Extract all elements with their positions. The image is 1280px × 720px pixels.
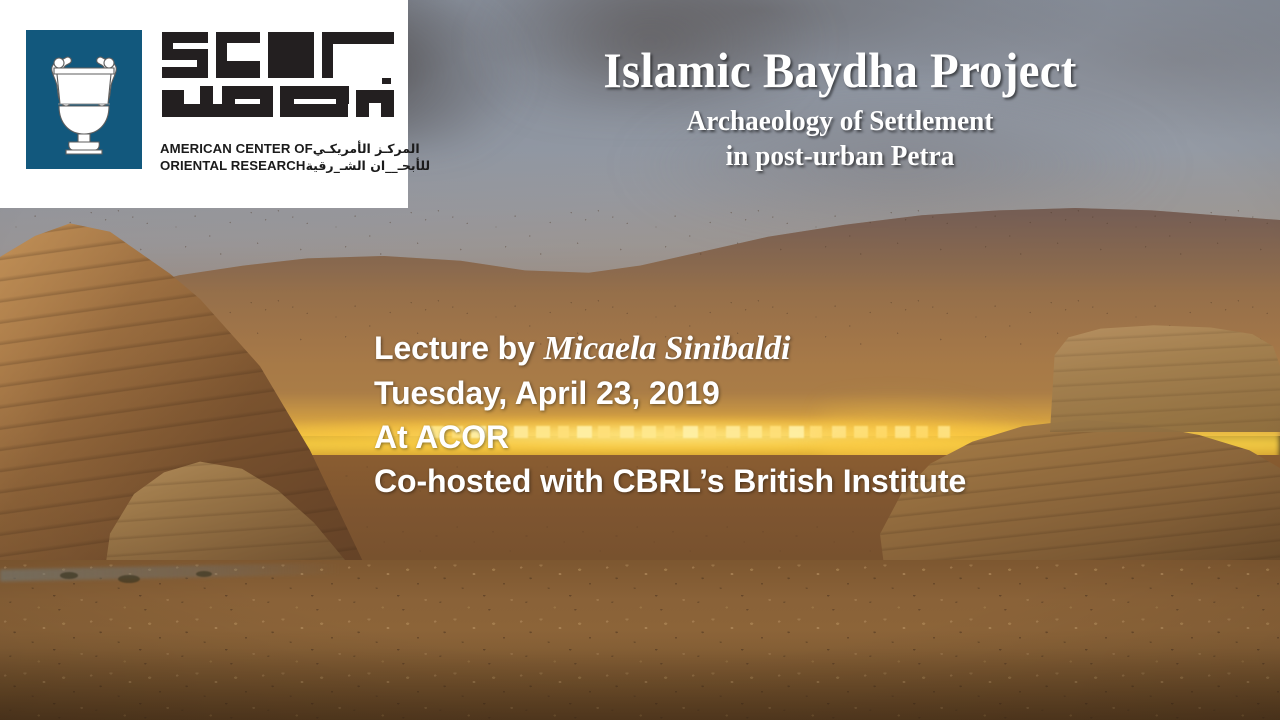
speaker-name: Micaela Sinibaldi	[544, 330, 791, 367]
acor-logo-subtitle: AMERICAN CENTER OF المركـز الأمريكـي ORI…	[160, 140, 398, 174]
lecture-venue: At ACOR	[374, 415, 966, 459]
lecture-speaker-line: Lecture by Micaela Sinibaldi	[374, 326, 966, 371]
acor-wordmark	[160, 28, 396, 138]
vegetation-clump	[118, 575, 140, 583]
acor-subtitle-line-1: AMERICAN CENTER OF المركـز الأمريكـي	[160, 140, 398, 157]
acor-subtitle-en-1: AMERICAN CENTER OF	[160, 140, 313, 157]
slide-subtitle-line-1: Archaeology of Settlement	[445, 104, 1235, 139]
acor-subtitle-en-2: ORIENTAL RESEARCH	[160, 157, 306, 174]
slide-title: Islamic Baydha Project	[445, 42, 1235, 98]
lecture-date: Tuesday, April 23, 2019	[374, 371, 966, 415]
acor-logo-panel: AMERICAN CENTER OF المركـز الأمريكـي ORI…	[0, 0, 408, 208]
lecture-by-label: Lecture by	[374, 330, 544, 366]
lecture-cohost: Co-hosted with CBRL’s British Institute	[374, 459, 966, 503]
vegetation-clump	[60, 572, 78, 579]
acor-subtitle-line-2: ORIENTAL RESEARCH للأبحـ__ان الشـ_رقية	[160, 157, 398, 174]
right-butte-strata	[1050, 322, 1280, 432]
slide-subtitle-line-2: in post-urban Petra	[445, 139, 1235, 174]
foreground-shadow	[0, 630, 1280, 720]
acor-subtitle-ar-1: المركـز الأمريكـي	[313, 140, 420, 157]
lecture-details: Lecture by Micaela Sinibaldi Tuesday, Ap…	[374, 326, 966, 503]
presentation-slide: AMERICAN CENTER OF المركـز الأمريكـي ORI…	[0, 0, 1280, 720]
vegetation-clump	[196, 571, 212, 577]
acor-subtitle-ar-2: للأبحـ__ان الشـ_رقية	[306, 157, 431, 174]
title-block: Islamic Baydha Project Archaeology of Se…	[420, 42, 1260, 174]
krater-vase-icon	[26, 30, 142, 169]
